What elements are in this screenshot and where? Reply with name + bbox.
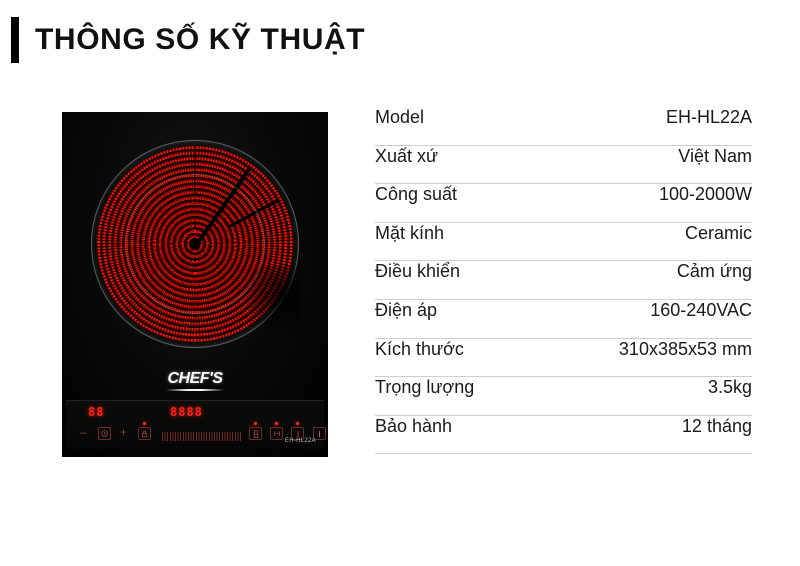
title-accent-bar bbox=[11, 17, 19, 63]
timer-button[interactable] bbox=[98, 427, 111, 440]
led-display-row: 88 8888 bbox=[66, 405, 324, 420]
indicator-dot bbox=[275, 422, 278, 425]
spec-row: Kích thước310x385x53 mm bbox=[375, 339, 752, 378]
page-title: THÔNG SỐ KỸ THUẬT bbox=[35, 25, 365, 55]
clock-icon bbox=[98, 427, 111, 440]
spec-row: Điều khiểnCảm ứng bbox=[375, 261, 752, 300]
spec-label: Xuất xứ bbox=[375, 146, 438, 175]
heating-zone bbox=[91, 140, 299, 348]
decrease-button[interactable]: – bbox=[80, 426, 87, 438]
boost-button[interactable] bbox=[249, 427, 262, 440]
power-level-slider[interactable] bbox=[162, 432, 242, 441]
spec-row: Mặt kínhCeramic bbox=[375, 223, 752, 262]
spec-value: EH-HL22A bbox=[666, 107, 752, 136]
spec-label: Công suất bbox=[375, 184, 457, 213]
spec-value: 12 tháng bbox=[682, 416, 752, 445]
spec-value: 310x385x53 mm bbox=[619, 339, 752, 368]
brand-logo: CHEF'S bbox=[62, 370, 328, 391]
spec-label: Mặt kính bbox=[375, 223, 444, 252]
spec-label: Điều khiển bbox=[375, 261, 460, 290]
indicator-dot bbox=[254, 422, 257, 425]
spec-row: ModelEH-HL22A bbox=[375, 107, 752, 146]
spec-row: Công suất100-2000W bbox=[375, 184, 752, 223]
spec-label: Trọng lượng bbox=[375, 377, 474, 406]
spec-label: Bảo hành bbox=[375, 416, 452, 445]
product-model-badge: EH-HL22A bbox=[285, 438, 316, 444]
keep-warm-icon bbox=[270, 427, 283, 440]
spec-value: 160-240VAC bbox=[650, 300, 752, 329]
child-lock-button[interactable] bbox=[138, 427, 151, 440]
spec-value: Cảm ứng bbox=[677, 261, 752, 290]
spec-row: Bảo hành12 tháng bbox=[375, 416, 752, 455]
led-display-level: 88 bbox=[88, 405, 104, 420]
cooktop-control-panel: 88 8888 – + bbox=[66, 400, 324, 449]
spec-value: 3.5kg bbox=[708, 377, 752, 406]
spec-row: Xuất xứViệt Nam bbox=[375, 146, 752, 185]
specification-table: ModelEH-HL22AXuất xứViệt NamCông suất100… bbox=[375, 107, 752, 454]
spec-label: Model bbox=[375, 107, 424, 136]
led-display-timer: 8888 bbox=[170, 405, 203, 420]
keep-warm-button[interactable] bbox=[270, 427, 283, 440]
spec-value: Việt Nam bbox=[678, 146, 752, 175]
indicator-dot bbox=[296, 422, 299, 425]
cooktop-glass-surface: CHEF'S 88 8888 – + bbox=[62, 112, 328, 457]
spec-row: Trọng lượng3.5kg bbox=[375, 377, 752, 416]
spec-value: 100-2000W bbox=[659, 184, 752, 213]
spec-value: Ceramic bbox=[685, 223, 752, 252]
product-image-cooktop: CHEF'S 88 8888 – + bbox=[62, 112, 328, 457]
boost-icon bbox=[249, 427, 262, 440]
spec-label: Kích thước bbox=[375, 339, 464, 368]
page-header: THÔNG SỐ KỸ THUẬT bbox=[11, 16, 365, 64]
spec-label: Điện áp bbox=[375, 300, 437, 329]
spec-row: Điện áp160-240VAC bbox=[375, 300, 752, 339]
heating-zone-shadow bbox=[241, 266, 301, 340]
child-lock-icon bbox=[138, 427, 151, 440]
indicator-dot bbox=[143, 422, 146, 425]
increase-button[interactable]: + bbox=[120, 426, 127, 438]
